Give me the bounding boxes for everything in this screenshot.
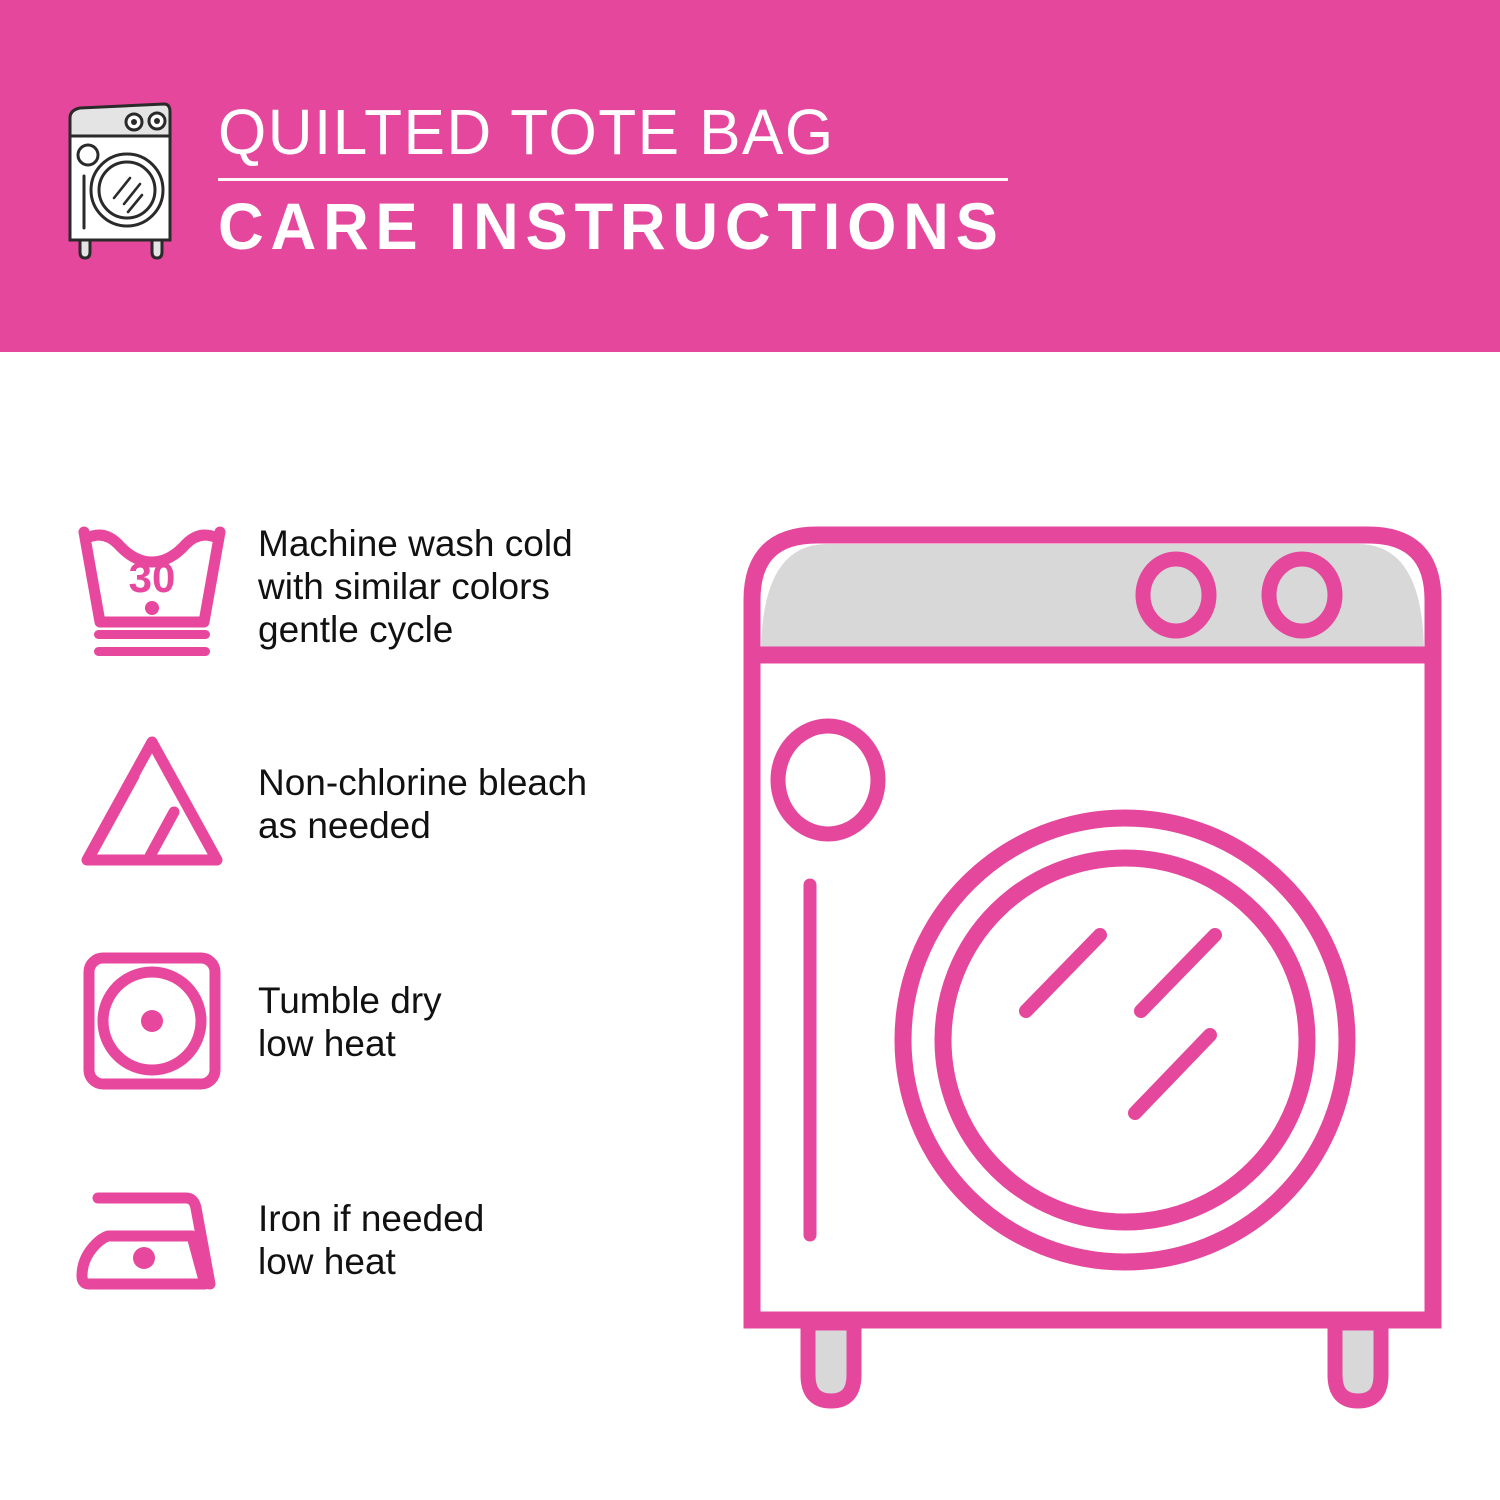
title-divider (218, 178, 1008, 181)
page-subtitle: CARE INSTRUCTIONS (218, 189, 986, 263)
bleach-triangle-icon (62, 722, 242, 887)
header-titles: QUILTED TOTE BAG CARE INSTRUCTIONS (218, 96, 1018, 263)
list-item: Tumble dry low heat (62, 936, 722, 1108)
list-item-label: Iron if needed low heat (258, 1197, 722, 1283)
iron-low-heat-icon (62, 1158, 242, 1323)
list-item: Non-chlorine bleach as needed (62, 718, 722, 890)
tumble-dry-low-icon (62, 940, 242, 1105)
list-item-label: Non-chlorine bleach as needed (258, 761, 722, 847)
list-item-label: Tumble dry low heat (258, 979, 722, 1065)
wash-tub-30-icon: 30 (62, 504, 242, 669)
list-item: 30 Machine wash cold with similar colors… (62, 500, 722, 672)
page-title: QUILTED TOTE BAG (218, 96, 994, 168)
care-instructions-page: QUILTED TOTE BAG CARE INSTRUCTIONS 30 (0, 0, 1500, 1500)
header-content: QUILTED TOTE BAG CARE INSTRUCTIONS (62, 96, 1442, 276)
list-item: Iron if needed low heat (62, 1154, 722, 1326)
washing-machine-icon (62, 100, 186, 264)
list-item-label: Machine wash cold with similar colors ge… (258, 522, 722, 651)
wash-temp-label: 30 (129, 554, 176, 601)
washing-machine-illustration (735, 495, 1450, 1425)
header-banner: QUILTED TOTE BAG CARE INSTRUCTIONS (0, 0, 1500, 352)
care-instruction-list: 30 Machine wash cold with similar colors… (62, 500, 722, 1326)
